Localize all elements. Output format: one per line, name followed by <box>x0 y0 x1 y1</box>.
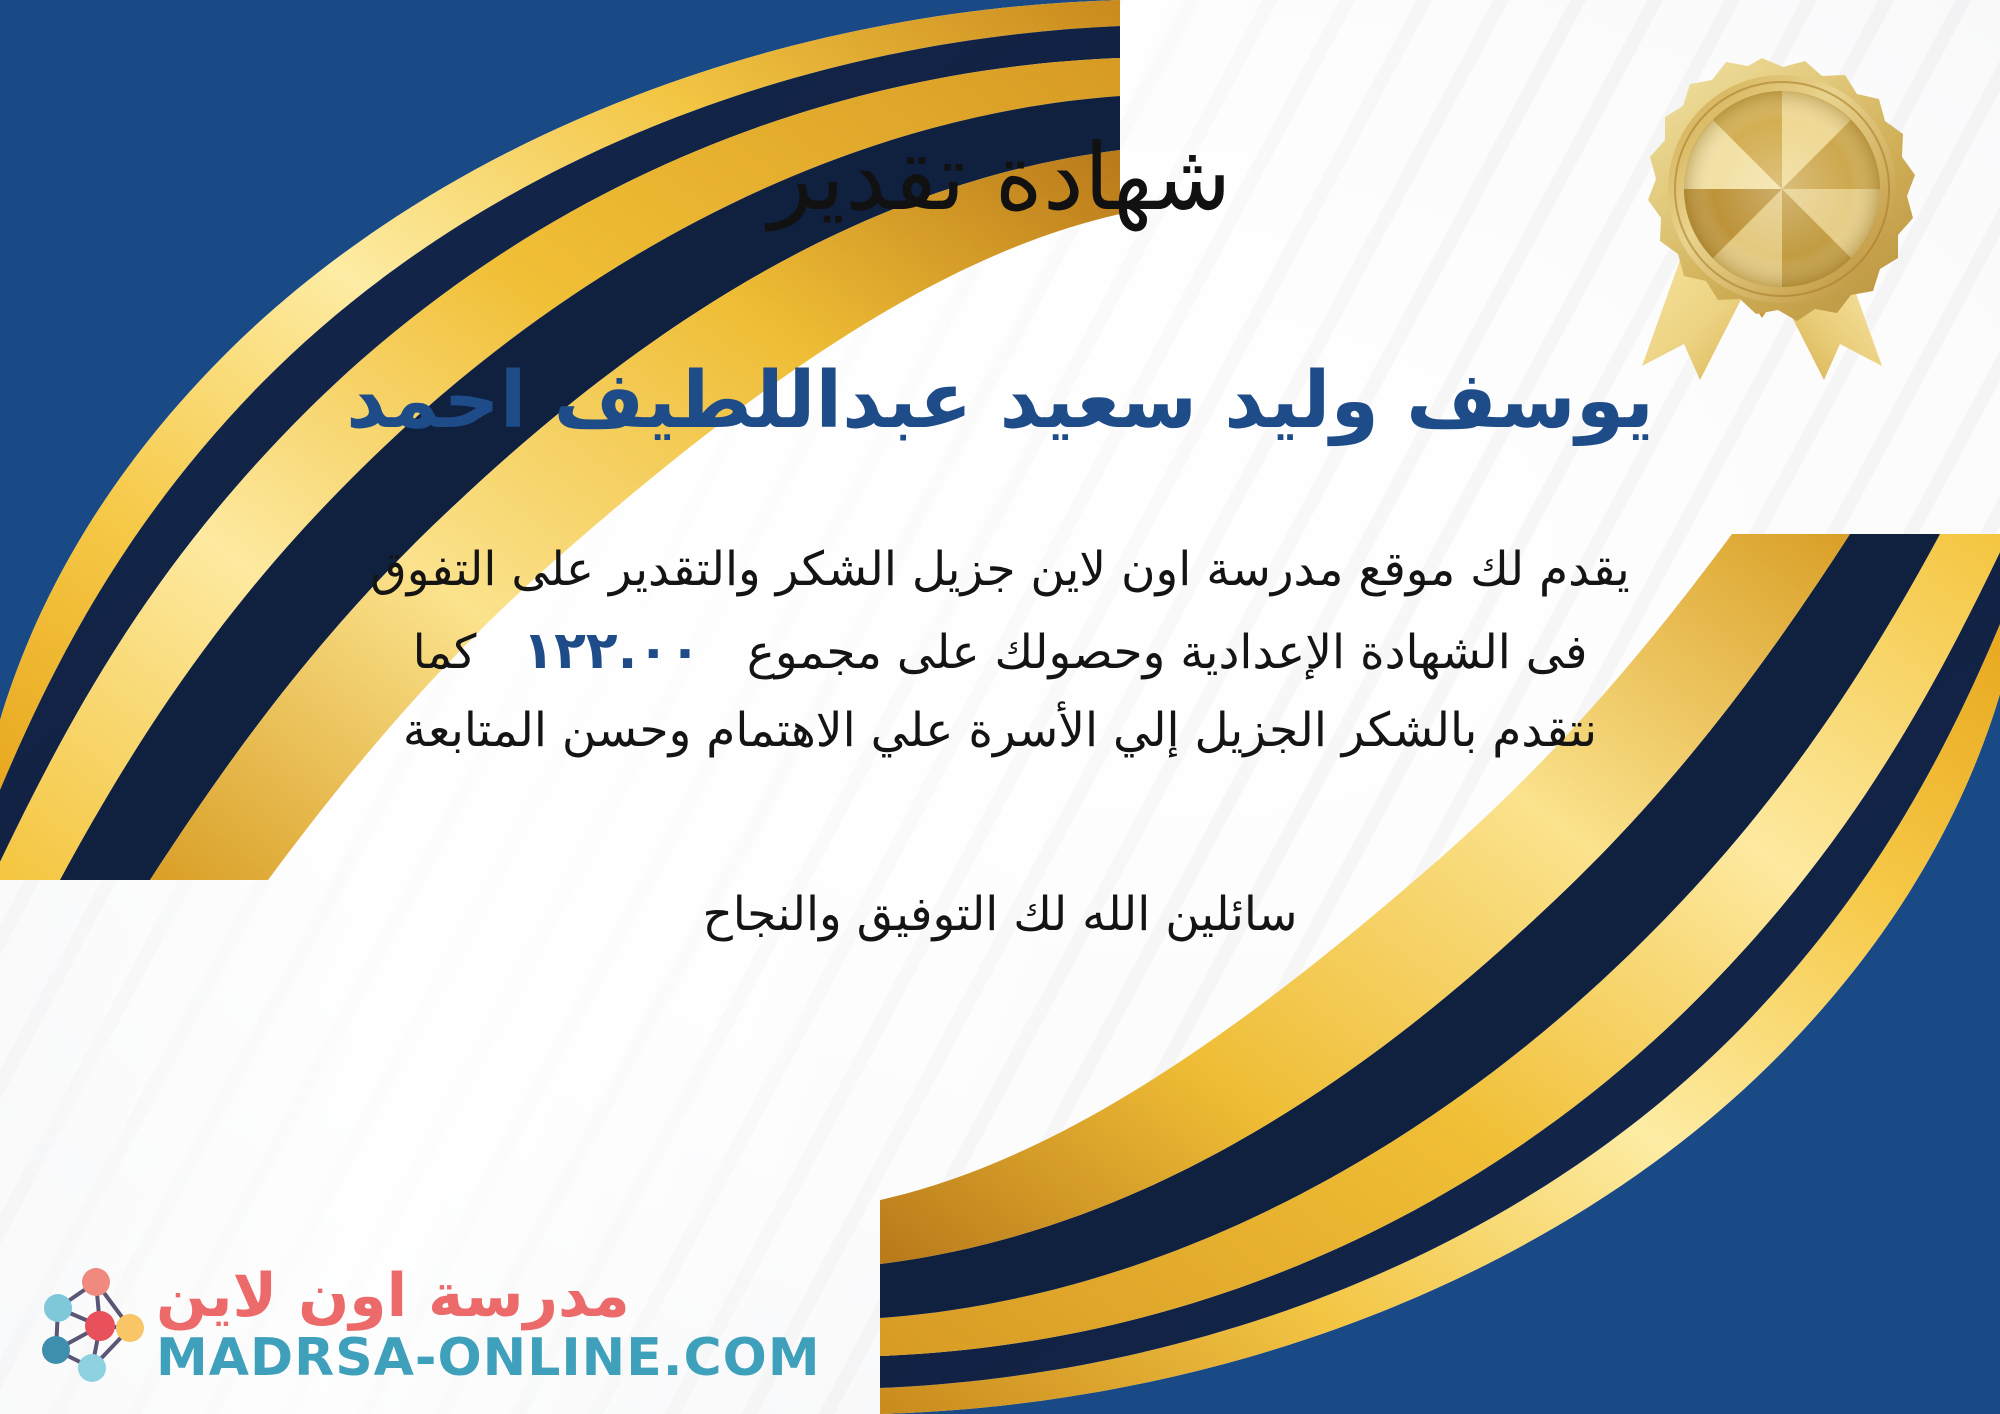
logo-domain-name: MADRSA-ONLINE.COM <box>156 1332 821 1384</box>
certificate-body: يقدم لك موقع مدرسة اون لاين جزيل الشكر و… <box>85 532 1915 768</box>
closing-line: سائلين الله لك التوفيق والنجاح <box>702 887 1297 942</box>
certificate-content: شهادة تقدير يوسف وليد سعيد عبداللطيف احم… <box>0 0 2000 1414</box>
logo-text-block: مدرسة اون لاين MADRSA-ONLINE.COM <box>156 1266 821 1384</box>
certificate-canvas: شهادة تقدير يوسف وليد سعيد عبداللطيف احم… <box>0 0 2000 1414</box>
recipient-name: يوسف وليد سعيد عبداللطيف احمد <box>346 359 1654 445</box>
body-line-2-left-segment: كما <box>413 615 477 691</box>
logo-arabic-name: مدرسة اون لاين <box>156 1266 630 1326</box>
total-score-value: ١٢٢.٠٠ <box>476 609 746 693</box>
body-line-2: فى الشهادة الإعدادية وحصولك على مجموع ١٢… <box>85 609 1915 693</box>
site-logo[interactable]: مدرسة اون لاين MADRSA-ONLINE.COM <box>34 1264 821 1386</box>
certificate-title: شهادة تقدير <box>769 130 1232 227</box>
body-line-2-right-segment: فى الشهادة الإعدادية وحصولك على مجموع <box>747 615 1588 691</box>
body-line-3: نتقدم بالشكر الجزيل إلي الأسرة علي الاهت… <box>85 693 1915 769</box>
network-nodes-icon <box>34 1264 146 1386</box>
body-line-1: يقدم لك موقع مدرسة اون لاين جزيل الشكر و… <box>85 532 1915 608</box>
